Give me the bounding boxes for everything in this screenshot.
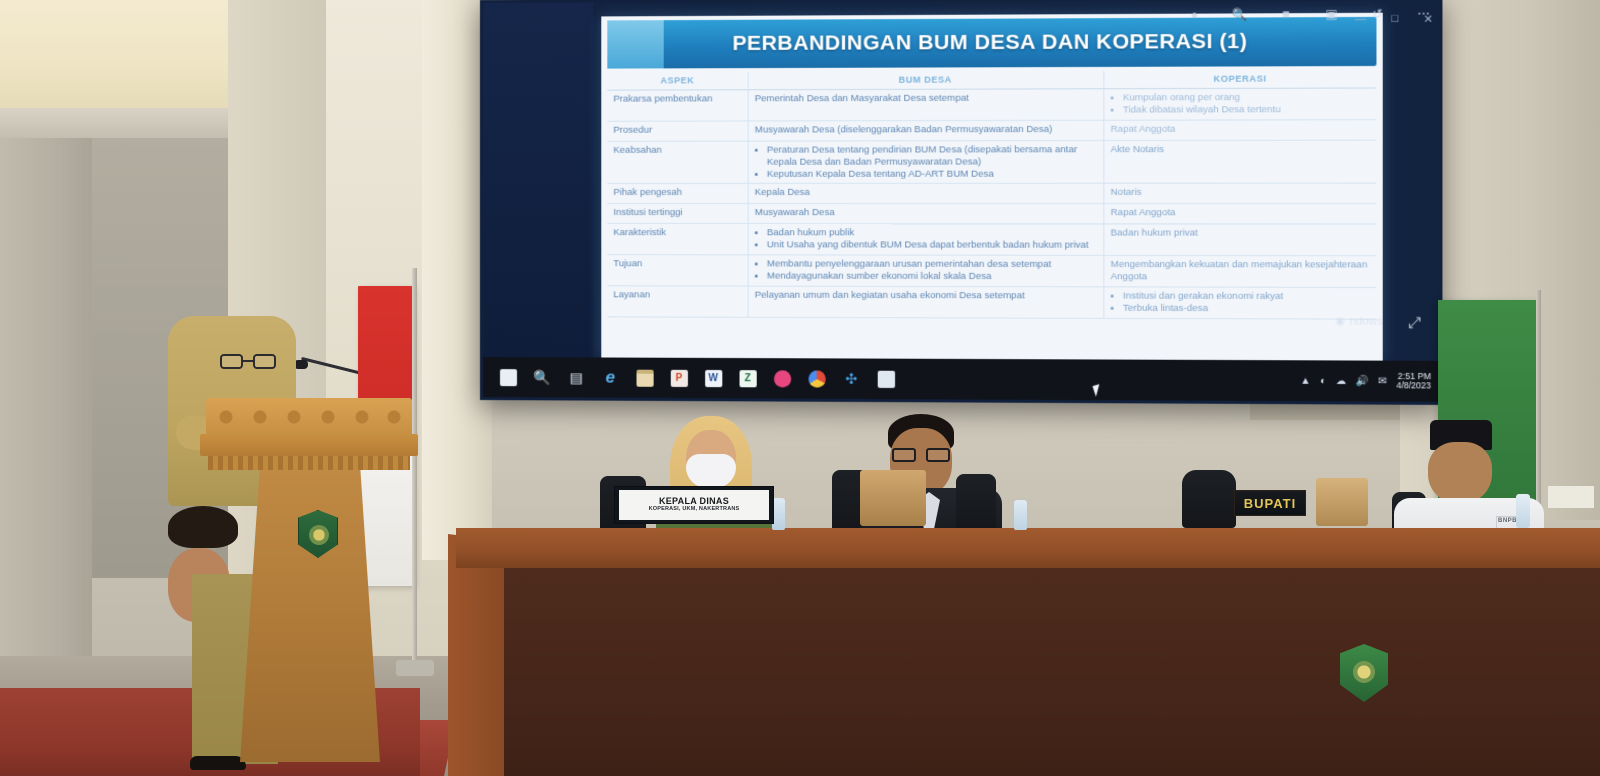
cell-koperasi: Rapat Anggota (1104, 120, 1376, 140)
task-view-icon[interactable]: ▤ (561, 362, 591, 392)
nameplate-kepala-dinas: KEPALA DINAS KOPERASI, UKM, NAKERTRANS (614, 486, 774, 524)
cell-koperasi: Akte Notaris (1104, 140, 1376, 183)
cell-aspek: Prosedur (607, 121, 748, 140)
desk-side-panel (448, 534, 504, 776)
cell-aspek: Tujuan (607, 255, 748, 285)
cell-bum-desa: Pelayanan umum dan kegiatan usaha ekonom… (749, 286, 1105, 317)
cell-bum-desa: Badan hukum publikUnit Usaha yang dibent… (749, 225, 1105, 255)
slide-title-bar: PERBANDINGAN BUM DESA DAN KOPERASI (1) (607, 17, 1376, 69)
paper-document (1548, 486, 1594, 508)
presentation-window: — □ ✕ ● 🔍 ■ ▣ ↺ ⋯ PERBANDINGAN BUM DESA … (593, 0, 1439, 369)
app-pink-icon[interactable] (767, 363, 797, 393)
pocket-label: BNPB (1498, 518, 1517, 524)
chair (956, 474, 996, 534)
eyeglasses-icon (220, 354, 276, 369)
column-header-koperasi: KOPERASI (1104, 70, 1376, 87)
cell-bum-desa: Musyawarah Desa (749, 204, 1105, 223)
face-mask (686, 454, 736, 488)
conference-desk (400, 528, 1600, 776)
column-header-aspek: ASPEK (607, 72, 748, 89)
cell-aspek: Institusi tertinggi (607, 204, 748, 223)
slideshow-icon[interactable]: ▣ (1322, 5, 1341, 23)
cell-koperasi: Badan hukum privat (1104, 225, 1376, 256)
cell-bum-desa: Peraturan Desa tentang pendirian BUM Des… (749, 141, 1105, 183)
water-glass (1516, 494, 1530, 528)
column-header-bumdesa: BUM DESA (749, 70, 1105, 87)
table-microphone (860, 470, 926, 526)
edge-icon[interactable]: e (595, 362, 625, 392)
chair (1182, 470, 1236, 528)
table-row: LayananPelayanan umum dan kegiatan usaha… (607, 286, 1376, 319)
cell-bum-desa: Membantu penyelenggaraan urusan pemerint… (749, 256, 1105, 287)
cell-bum-desa: Kepala Desa (749, 184, 1105, 203)
cell-koperasi: Notaris (1104, 184, 1376, 203)
cell-aspek: Karakteristik (607, 224, 748, 254)
chevron-up-icon[interactable]: ▲ (1300, 375, 1310, 386)
excel-icon[interactable]: Z (732, 363, 762, 393)
photos-icon[interactable] (871, 364, 902, 394)
windows-taskbar[interactable]: 🔍 ▤ e P W Z ✣ ▲ ◐ ☁ 🔊 ✉ (483, 357, 1439, 402)
cell-aspek: Keabsahan (607, 141, 748, 183)
projection-screen: — □ ✕ ● 🔍 ■ ▣ ↺ ⋯ PERBANDINGAN BUM DESA … (480, 0, 1442, 405)
screenshot-root: — □ ✕ ● 🔍 ■ ▣ ↺ ⋯ PERBANDINGAN BUM DESA … (0, 0, 1600, 776)
window-controls[interactable]: — □ ✕ (1355, 13, 1433, 27)
podium-lip (200, 434, 418, 456)
table-row: KarakteristikBadan hukum publikUnit Usah… (607, 224, 1376, 256)
desk-front-panel (496, 568, 1600, 776)
table-row: TujuanMembantu penyelenggaraan urusan pe… (607, 255, 1376, 288)
fullscreen-icon[interactable]: ⤢ (1408, 315, 1421, 332)
table-microphone (1316, 478, 1368, 526)
slide-comparison-table: ASPEK BUM DESA KOPERASI Prakarsa pembent… (607, 68, 1376, 359)
onedrive-icon[interactable]: ☁ (1336, 375, 1346, 386)
speaking-podium (206, 398, 412, 764)
powerpoint-icon[interactable]: P (664, 363, 694, 393)
pen-icon[interactable]: ■ (1276, 5, 1295, 23)
chrome-icon[interactable] (801, 363, 831, 393)
nameplate-line2: KOPERASI, UKM, NAKERTRANS (649, 507, 740, 513)
cell-aspek: Prakarsa pembentukan (607, 90, 748, 120)
cell-koperasi: Mengembangkan kekuatan dan memajukan kes… (1104, 256, 1376, 287)
cast-icon[interactable]: ● (1185, 5, 1204, 23)
water-bottle (1014, 500, 1027, 530)
minimize-icon[interactable]: — (1355, 13, 1366, 26)
search-icon[interactable]: 🔍 (1231, 5, 1250, 23)
slide-title: PERBANDINGAN BUM DESA DAN KOPERASI (1) (607, 29, 1376, 56)
desk-top-edge (456, 554, 1600, 568)
wall-column-left (0, 138, 92, 658)
start-icon[interactable] (493, 362, 523, 392)
system-tray[interactable]: ▲ ◐ ☁ 🔊 ✉ 2:51 PM 4/8/2023 (1300, 371, 1439, 391)
table-row: KeabsahanPeraturan Desa tentang pendiria… (607, 140, 1376, 184)
windows-watermark: ◉ ndows (1335, 314, 1382, 327)
table-row: Prakarsa pembentukanPemerintah Desa dan … (607, 88, 1376, 121)
nameplate-bupati-text: BUPATI (1244, 496, 1296, 511)
watermark-badge-icon: ◉ (1335, 314, 1345, 327)
table-row: Pihak pengesahKepala DesaNotaris (607, 184, 1376, 204)
word-icon[interactable]: W (698, 363, 728, 393)
slide-canvas: PERBANDINGAN BUM DESA DAN KOPERASI (1) A… (601, 13, 1382, 361)
search-icon[interactable]: 🔍 (527, 362, 557, 392)
network-icon[interactable]: ◐ (1320, 375, 1326, 386)
table-body: Prakarsa pembentukanPemerintah Desa dan … (607, 88, 1376, 319)
cell-bum-desa: Musyawarah Desa (diselenggarakan Badan P… (749, 120, 1105, 140)
cell-koperasi: Kumpulan orang per orangTidak dibatasi w… (1104, 88, 1376, 119)
cell-koperasi: Rapat Anggota (1104, 204, 1376, 223)
maximize-icon[interactable]: □ (1391, 13, 1398, 26)
cell-bum-desa: Pemerintah Desa dan Masyarakat Desa sete… (749, 89, 1105, 120)
bluetooth-icon[interactable]: ✣ (836, 363, 867, 393)
podium-carved-band (208, 456, 410, 470)
projection-screen-surface: — □ ✕ ● 🔍 ■ ▣ ↺ ⋯ PERBANDINGAN BUM DESA … (483, 0, 1439, 402)
cell-aspek: Pihak pengesah (607, 184, 748, 203)
eyeglasses-icon (892, 448, 950, 462)
notification-icon[interactable]: ✉ (1378, 375, 1387, 386)
podium-carved-crown (206, 398, 412, 436)
table-header-row: ASPEK BUM DESA KOPERASI (607, 68, 1376, 91)
cell-aspek: Layanan (607, 286, 748, 316)
face (1428, 442, 1492, 504)
table-row: ProsedurMusyawarah Desa (diselenggarakan… (607, 120, 1376, 142)
close-icon[interactable]: ✕ (1423, 13, 1433, 26)
nameplate-bupati: BUPATI (1234, 490, 1306, 516)
table-row: Institusi tertinggiMusyawarah DesaRapat … (607, 204, 1376, 225)
taskbar-clock[interactable]: 2:51 PM 4/8/2023 (1396, 372, 1431, 391)
taskbar-items[interactable]: 🔍 ▤ e P W Z ✣ (483, 362, 901, 394)
volume-icon[interactable]: 🔊 (1356, 375, 1369, 386)
watermark-text: ndows (1350, 315, 1383, 327)
seated-official-man-peci: BNPB (1404, 420, 1532, 536)
file-explorer-icon[interactable] (629, 363, 659, 393)
desk-top-surface (456, 528, 1600, 556)
clock-date: 4/8/2023 (1396, 381, 1431, 391)
